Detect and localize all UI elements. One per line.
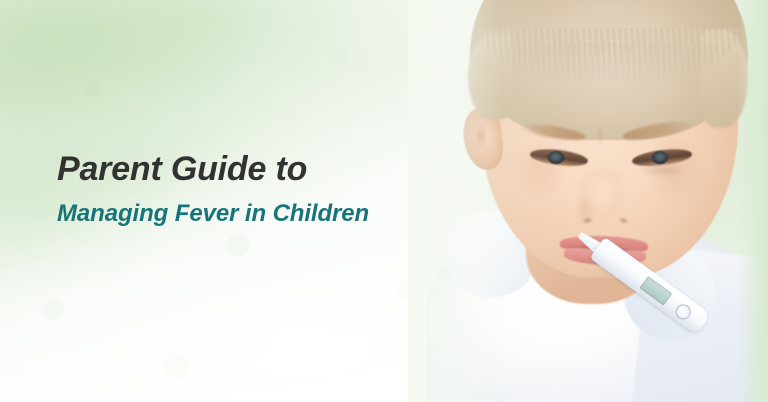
brow-furrow xyxy=(594,122,606,148)
page-subtitle: Managing Fever in Children xyxy=(57,200,437,228)
under-eye-shadow-right xyxy=(632,164,694,180)
iris-right xyxy=(652,151,668,164)
page-title: Parent Guide to xyxy=(57,149,437,189)
ear-inner-shadow xyxy=(472,120,490,152)
health-article-banner: Parent Guide to Managing Fever in Childr… xyxy=(0,0,768,402)
boy-with-thermometer-photo xyxy=(408,0,768,402)
banner-text-block: Parent Guide to Managing Fever in Childr… xyxy=(57,149,437,228)
iris-left xyxy=(548,151,564,164)
boy-figure xyxy=(408,0,768,402)
